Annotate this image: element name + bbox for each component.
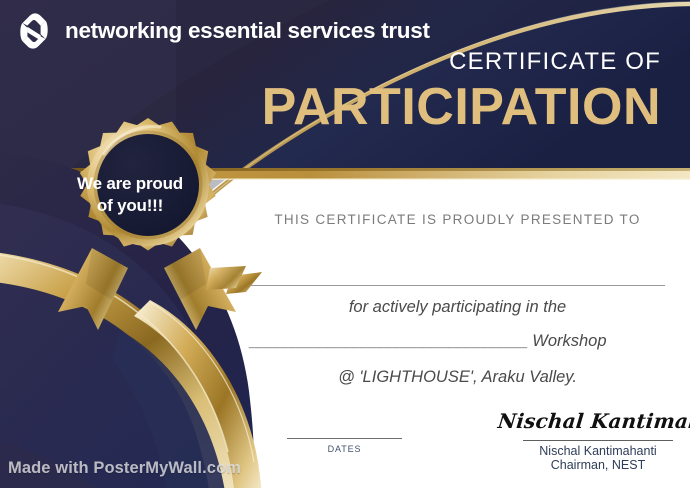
certificate-title-small: CERTIFICATE OF xyxy=(262,50,661,74)
dates-label: DATES xyxy=(287,444,402,454)
certificate-title-block: CERTIFICATE OF PARTICIPATION xyxy=(262,50,661,135)
postermywall-watermark: Made with PosterMyWall.com xyxy=(8,459,241,478)
recipient-name-rule xyxy=(250,285,665,286)
signature-rule xyxy=(523,440,673,441)
venue-line: @ 'LIGHTHOUSE', Araku Valley. xyxy=(250,368,665,387)
signatory-name: Nischal Kantimahanti xyxy=(498,444,690,459)
dates-rule xyxy=(287,438,402,439)
signature-script: Nischal Kantimahanti xyxy=(497,409,690,433)
participation-line: for actively participating in the xyxy=(250,298,665,317)
signatory-role: Chairman, NEST xyxy=(498,458,690,473)
certificate-title-main: PARTICIPATION xyxy=(262,80,661,135)
interlocking-n-logo-icon xyxy=(14,11,54,51)
presented-to-label: THIS CERTIFICATE IS PROUDLY PRESENTED TO xyxy=(250,212,665,227)
workshop-suffix: Workshop xyxy=(528,332,607,350)
brand-lockup: networking essential services trust xyxy=(14,11,430,51)
brand-name: networking essential services trust xyxy=(65,20,430,43)
certificate-canvas: networking essential services trust CERT… xyxy=(0,0,690,488)
workshop-line: ________________________________ Worksho… xyxy=(250,332,665,351)
workshop-blank-field[interactable]: ________________________________ xyxy=(250,332,528,350)
